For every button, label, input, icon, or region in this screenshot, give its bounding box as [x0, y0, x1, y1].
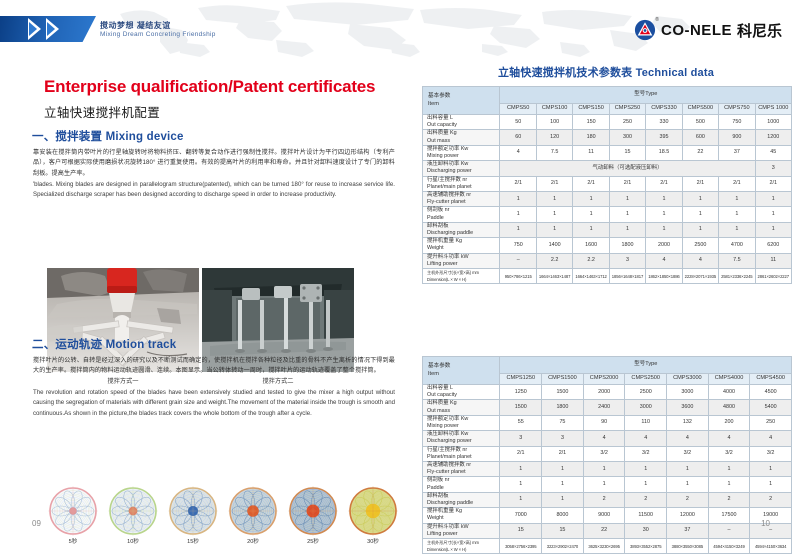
- table-row: 出料容量 LOut capacity5010015025033050075010…: [423, 115, 792, 130]
- table-cell: 1: [755, 207, 791, 222]
- table-cell: 60: [500, 130, 536, 145]
- table-cell: 1: [750, 462, 792, 477]
- table-cell: 1600: [573, 238, 609, 253]
- row-label-cell: 液压卸料功率 KwDischarging power: [423, 161, 500, 176]
- row-label-cell: 出料质量 KgOut mass: [423, 400, 500, 415]
- table-cell: 4: [625, 431, 667, 446]
- table-cell: 3000: [625, 400, 667, 415]
- table-cell: 2861×2602×2227: [755, 269, 791, 284]
- model-header-cell: CMPS100: [536, 104, 572, 115]
- table-cell: 120: [536, 130, 572, 145]
- table-cell: 5400: [750, 400, 792, 415]
- row-label-cell: 侧刮板 nrPaddle: [423, 477, 500, 492]
- row-label-cell: 搅拌额定功率 KwMixing power: [423, 415, 500, 430]
- table-cell: 4800: [708, 400, 750, 415]
- trademark-symbol: ®: [655, 17, 659, 23]
- brand-lockup: ® CO-NELE 科尼乐: [634, 18, 782, 42]
- table-cell: 1400: [536, 238, 572, 253]
- table-cell: 1664×1463×1712: [573, 269, 609, 284]
- table-cell: 300: [609, 130, 645, 145]
- table-cell: 250: [609, 115, 645, 130]
- model-header-cell: CMPS50: [500, 104, 536, 115]
- table-cell: 2500: [625, 385, 667, 400]
- table-cell: 1: [573, 192, 609, 207]
- table-cell: 1: [573, 222, 609, 237]
- model-header-cell: CMPS2500: [625, 374, 667, 385]
- table-cell: 1664×1463×1487: [536, 269, 572, 284]
- table-cell: 1: [708, 477, 750, 492]
- table-cell: 1: [609, 207, 645, 222]
- table-cell: 1: [500, 462, 542, 477]
- table-cell: 50: [500, 115, 536, 130]
- table-cell: 1: [755, 222, 791, 237]
- table-cell: 1: [719, 207, 755, 222]
- table-cell: 1000: [755, 115, 791, 130]
- table-cell: 15: [500, 523, 542, 538]
- row-label-cell: 出料质量 KgOut mass: [423, 130, 500, 145]
- table-cell: 1250: [500, 385, 542, 400]
- table-cell: 3600: [667, 400, 709, 415]
- table-cell: 1: [536, 222, 572, 237]
- table-cell: 15: [542, 523, 584, 538]
- model-header-cell: CMPS3000: [667, 374, 709, 385]
- table-cell: 3: [542, 431, 584, 446]
- section-1-heading-en: Mixing device: [106, 131, 184, 143]
- motion-track-caption: 20秒: [228, 537, 278, 545]
- table-cell: 4: [583, 431, 625, 446]
- table-cell: –: [708, 523, 750, 538]
- table-cell: 750: [719, 115, 755, 130]
- rosette-track-svg: [228, 486, 278, 536]
- model-header-cell: CMPS750: [719, 104, 755, 115]
- table-cell: 3: [755, 161, 791, 176]
- table-cell: 1: [625, 477, 667, 492]
- table-cell: 6200: [755, 238, 791, 253]
- table-cell: 15: [609, 145, 645, 160]
- table-row: 出料容量 LOut capacity1250150020002500300040…: [423, 385, 792, 400]
- slogan-english: Mixing Dream Concreting Friendship: [100, 31, 216, 38]
- table-cell: 2/1: [719, 176, 755, 191]
- table-cell: 1: [682, 207, 718, 222]
- table-cell: 22: [682, 145, 718, 160]
- table-cell: 2228×2071×1935: [682, 269, 718, 284]
- right-page: 立轴快速搅拌机技术参数表 Technical data 基本参数Item型号Ty…: [412, 58, 800, 542]
- row-label-cell: 高速辅助搅拌数 nrFly-cutter planet: [423, 192, 500, 207]
- table-cell: 132: [667, 415, 709, 430]
- table-cell: 1: [583, 462, 625, 477]
- table-cell: 1: [708, 462, 750, 477]
- section-1-heading: 一、搅拌装置 Mixing device: [32, 128, 184, 144]
- table-cell: 3/2: [750, 446, 792, 461]
- table-cell: 1: [583, 477, 625, 492]
- spec-table-1: 基本参数Item型号TypeCMPS50CMPS100CMPS150CMPS25…: [422, 86, 792, 284]
- model-header-cell: CMPS1250: [500, 374, 542, 385]
- table-cell: 1: [542, 477, 584, 492]
- model-header-cell: CMPS2000: [583, 374, 625, 385]
- model-header-cell: CMPS4500: [750, 374, 792, 385]
- row-label-cell: 搅拌机重量 KgWeight: [423, 238, 500, 253]
- table-row: 搅拌机重量 KgWeight70008000900011500120001750…: [423, 508, 792, 523]
- technical-data-title: 立轴快速搅拌机技术参数表 Technical data: [412, 64, 800, 80]
- table-cell: 1: [542, 492, 584, 507]
- table-cell: 3223×2902×2470: [542, 539, 584, 554]
- model-header-cell: CMPS250: [609, 104, 645, 115]
- table-cell: 7000: [500, 508, 542, 523]
- table-cell: 2000: [646, 238, 682, 253]
- table-cell: 4594×4150×3634: [750, 539, 792, 554]
- table-row: 高速辅助搅拌数 nrFly-cutter planet11111111: [423, 192, 792, 207]
- table-cell: 7.5: [719, 253, 755, 268]
- row-label-cell: 卸料刮板Discharging paddle: [423, 222, 500, 237]
- table-row: 卸料刮板Discharging paddle1122222: [423, 492, 792, 507]
- table-row: 提升料斗功率 kWLifting power1515223037––: [423, 523, 792, 538]
- table-cell: 4: [708, 431, 750, 446]
- motion-track-diagram: [288, 486, 338, 536]
- table-row: 出料质量 KgOut mass1500180024003000360048005…: [423, 400, 792, 415]
- motion-track-diagram: [228, 486, 278, 536]
- table-cell: 11: [755, 253, 791, 268]
- row-label-cell: 提升料斗功率 kWLifting power: [423, 523, 500, 538]
- table-row: 出料质量 KgOut mass601201803003956009001200: [423, 130, 792, 145]
- page-number-right: 10: [761, 519, 770, 528]
- table-cell: 1: [500, 222, 536, 237]
- table-cell: 950×786×1215: [500, 269, 536, 284]
- table-row: 卸料刮板Discharging paddle11111111: [423, 222, 792, 237]
- table-cell: 1500: [542, 385, 584, 400]
- table-cell: 1: [536, 192, 572, 207]
- page-header: 搅动梦想 凝结友谊 Mixing Dream Concreting Friend…: [0, 0, 800, 58]
- rosette-track-svg: [48, 486, 98, 536]
- row-label-cell: 液压卸料功率 KwDischarging power: [423, 431, 500, 446]
- table-cell: 330: [646, 115, 682, 130]
- header-type-cell: 型号Type: [500, 357, 792, 374]
- table-cell: 1: [646, 222, 682, 237]
- table-cell: 2/1: [755, 176, 791, 191]
- rosette-track-svg: [288, 486, 338, 536]
- table-cell: 2: [583, 492, 625, 507]
- table-cell: 1: [500, 192, 536, 207]
- table-cell: 110: [625, 415, 667, 430]
- motion-track-caption: 5秒: [48, 537, 98, 545]
- photo-2-caption: 搅拌方式二: [202, 376, 354, 385]
- model-header-cell: CMPS 1000: [755, 104, 791, 115]
- table-cell: 1: [536, 207, 572, 222]
- section-1-paragraph-en: 'blades. Mixing blades are designed in p…: [33, 180, 395, 201]
- table-cell: 3058×2756×2395: [500, 539, 542, 554]
- table-cell: 19000: [750, 508, 792, 523]
- table-cell: 3/2: [708, 446, 750, 461]
- table-cell: 22: [583, 523, 625, 538]
- rosette-track-svg: [108, 486, 158, 536]
- header-item-cell: 基本参数Item: [423, 357, 500, 385]
- table-row: 侧刮板 nrPaddle11111111: [423, 207, 792, 222]
- slogan-chinese: 搅动梦想 凝结友谊: [100, 20, 171, 31]
- row-label-cell: 提升料斗功率 kWLifting power: [423, 253, 500, 268]
- table-cell: 2: [750, 492, 792, 507]
- table-cell: 18.5: [646, 145, 682, 160]
- row-label-cell: 行星/主搅拌数 nrPlanet/main planet: [423, 446, 500, 461]
- brand-name-cn: 科尼乐: [737, 20, 782, 41]
- row-label-cell: 搅拌额定功率 KwMixing power: [423, 145, 500, 160]
- table-cell: 1: [542, 462, 584, 477]
- table-cell: 1: [609, 222, 645, 237]
- row-label-cell: 搅拌机重量 KgWeight: [423, 508, 500, 523]
- table-cell: 30: [625, 523, 667, 538]
- section-2-heading-cn: 二、运动轨迹: [32, 339, 102, 351]
- table-cell: 3/2: [625, 446, 667, 461]
- table-cell: 1: [646, 192, 682, 207]
- motion-track-diagram: [48, 486, 98, 536]
- table-cell: 900: [719, 130, 755, 145]
- section-2-paragraph-cn: 搅拌叶片的公转、自转是经过深入的研究以及不断测试而确定的，使搅拌机在搅拌各种粒径…: [33, 356, 395, 377]
- table-cell: 1: [609, 192, 645, 207]
- table-cell: 200: [708, 415, 750, 430]
- logo-chevron-inner-icon: [29, 22, 37, 36]
- table-cell: 4: [682, 253, 718, 268]
- table-cell: 4: [750, 431, 792, 446]
- table-cell: 150: [573, 115, 609, 130]
- row-label-cell: 主机外形尺寸(长×宽×高) mmDimension(L × W × H): [423, 539, 500, 554]
- table-cell: 2.2: [536, 253, 572, 268]
- rosette-track-svg: [168, 486, 218, 536]
- section-1-paragraph-cn: 靠安装在搅拌筒内带叶片的行星轴旋转时将物料挤压、翻转等复合动作进行强制性搅拌。搅…: [33, 148, 395, 179]
- table-cell: 2.2: [573, 253, 609, 268]
- table-cell: –: [500, 253, 536, 268]
- rosette-track-svg: [348, 486, 398, 536]
- table-cell: 2/1: [609, 176, 645, 191]
- model-header-cell: CMPS150: [573, 104, 609, 115]
- table-cell: 2: [708, 492, 750, 507]
- table-cell: 8000: [542, 508, 584, 523]
- table-cell: 180: [573, 130, 609, 145]
- table-cell: 750: [500, 238, 536, 253]
- motion-track-caption: 25秒: [288, 537, 338, 545]
- table-cell: 1: [682, 222, 718, 237]
- table-cell: 1: [682, 192, 718, 207]
- table-row: 主机外形尺寸(长×宽×高) mmDimension(L × W × H)3058…: [423, 539, 792, 554]
- row-label-cell: 行星/主搅拌数 nrPlanet/main planet: [423, 176, 500, 191]
- table-cell: 3625×3230×2695: [583, 539, 625, 554]
- table-cell: 4: [500, 145, 536, 160]
- section-2-heading-en: Motion track: [106, 339, 177, 351]
- table-row: 侧刮板 nrPaddle1111111: [423, 477, 792, 492]
- table-cell: 1: [500, 492, 542, 507]
- table-row: 液压卸料功率 KwDischarging power气动卸料（可选配液压卸料）3: [423, 161, 792, 176]
- table-cell: 1: [719, 222, 755, 237]
- conele-logo-icon: ®: [634, 19, 656, 41]
- table-cell: 2/1: [682, 176, 718, 191]
- table-cell: 1: [755, 192, 791, 207]
- motion-track-caption: 10秒: [108, 537, 158, 545]
- page-number-left: 09: [32, 519, 41, 528]
- table-cell: 3/2: [667, 446, 709, 461]
- table-cell: 3/2: [583, 446, 625, 461]
- table-cell: 4000: [708, 385, 750, 400]
- row-label-cell: 卸料刮板Discharging paddle: [423, 492, 500, 507]
- table-row: 提升料斗功率 kWLifting power–2.22.23447.511: [423, 253, 792, 268]
- table-cell: 1: [573, 207, 609, 222]
- table-cell: 4594×4150×3249: [708, 539, 750, 554]
- table-row: 高速辅助搅拌数 nrFly-cutter planet1111111: [423, 462, 792, 477]
- motion-track-caption: 15秒: [168, 537, 218, 545]
- table-cell: 2500: [682, 238, 718, 253]
- table-row: 搅拌额定功率 KwMixing power557590110132200250: [423, 415, 792, 430]
- page-title-cn: 立轴快速搅拌机配置: [44, 102, 160, 121]
- motion-track-diagram: [108, 486, 158, 536]
- table-cell: 1: [719, 192, 755, 207]
- row-label-cell: 出料容量 LOut capacity: [423, 115, 500, 130]
- table-cell: 395: [646, 130, 682, 145]
- table-row: 搅拌机重量 KgWeight75014001600180020002500470…: [423, 238, 792, 253]
- table-row: 行星/主搅拌数 nrPlanet/main planet2/12/12/12/1…: [423, 176, 792, 191]
- table-cell: 250: [750, 415, 792, 430]
- motion-track-diagram: [348, 486, 398, 536]
- table-cell: 3: [500, 431, 542, 446]
- table-cell: 3880×3550×3085: [667, 539, 709, 554]
- table-cell: 4: [667, 431, 709, 446]
- table-cell: 9000: [583, 508, 625, 523]
- table-cell: –: [750, 523, 792, 538]
- row-label-cell: 侧刮板 nrPaddle: [423, 207, 500, 222]
- table-row: 行星/主搅拌数 nrPlanet/main planet2/12/13/23/2…: [423, 446, 792, 461]
- table-cell: 600: [682, 130, 718, 145]
- table-cell: 2: [625, 492, 667, 507]
- table-cell: 4500: [750, 385, 792, 400]
- table-cell: 7.5: [536, 145, 572, 160]
- logo-chevron-inner-icon-2: [47, 22, 55, 36]
- world-map-watermark: [90, 0, 710, 58]
- table-cell: 75: [542, 415, 584, 430]
- table-cell: 1: [500, 477, 542, 492]
- photo-1-caption: 搅拌方式一: [47, 376, 199, 385]
- model-header-cell: CMPS500: [682, 104, 718, 115]
- table-cell: 500: [682, 115, 718, 130]
- table-cell: 2000: [583, 385, 625, 400]
- table-cell: 45: [755, 145, 791, 160]
- table-cell: 1500: [500, 400, 542, 415]
- table-cell: 100: [536, 115, 572, 130]
- table-cell: 1: [646, 207, 682, 222]
- table-row: 主机外形尺寸(长×宽×高) mmDimension(L × W × H)950×…: [423, 269, 792, 284]
- table-cell: 37: [667, 523, 709, 538]
- table-cell: 4: [646, 253, 682, 268]
- left-page: Enterprise qualification/Patent certific…: [0, 58, 412, 542]
- table-cell: 2581×2336×2245: [719, 269, 755, 284]
- table-cell: 90: [583, 415, 625, 430]
- page-title-en: Enterprise qualification/Patent certific…: [44, 77, 375, 97]
- table-cell: 1800: [542, 400, 584, 415]
- header-item-cell: 基本参数Item: [423, 87, 500, 115]
- table-cell: 3893×3552×2875: [625, 539, 667, 554]
- table-cell: 1862×1850×1886: [646, 269, 682, 284]
- model-header-cell: CMPS330: [646, 104, 682, 115]
- section-1-heading-cn: 一、搅拌装置: [32, 131, 102, 143]
- table-cell: 1: [750, 477, 792, 492]
- row-label-cell: 高速辅助搅拌数 nrFly-cutter planet: [423, 462, 500, 477]
- table-cell: 11500: [625, 508, 667, 523]
- table-cell: 1800: [609, 238, 645, 253]
- table-cell: 2/1: [573, 176, 609, 191]
- table-cell: 2400: [583, 400, 625, 415]
- table-cell: 1200: [755, 130, 791, 145]
- spec-table-2: 基本参数Item型号TypeCMPS1250CMPS1500CMPS2000CM…: [422, 356, 792, 554]
- table-cell: 2/1: [500, 446, 542, 461]
- table-cell: 3: [609, 253, 645, 268]
- table-row: 搅拌额定功率 KwMixing power47.5111518.5223745: [423, 145, 792, 160]
- table-cell: 55: [500, 415, 542, 430]
- table-cell: 2/1: [536, 176, 572, 191]
- table-row: 液压卸料功率 KwDischarging power3344444: [423, 431, 792, 446]
- model-header-cell: CMPS1500: [542, 374, 584, 385]
- table-cell: 2/1: [646, 176, 682, 191]
- header-type-cell: 型号Type: [500, 87, 792, 104]
- table-cell: 2: [667, 492, 709, 507]
- section-2-heading: 二、运动轨迹 Motion track: [32, 336, 176, 352]
- table-cell: 3000: [667, 385, 709, 400]
- table-cell: 37: [719, 145, 755, 160]
- table-cell: 4700: [719, 238, 755, 253]
- table-cell: 2/1: [500, 176, 536, 191]
- motion-track-diagram: [168, 486, 218, 536]
- row-label-cell: 主机外形尺寸(长×宽×高) mmDimension(L × W × H): [423, 269, 500, 284]
- merged-note-cell: 气动卸料（可选配液压卸料）: [500, 161, 755, 176]
- brand-name-en: CO-NELE: [661, 22, 732, 39]
- table-cell: 2/1: [542, 446, 584, 461]
- table-cell: 1: [625, 462, 667, 477]
- motion-track-caption: 30秒: [348, 537, 398, 545]
- table-cell: 17500: [708, 508, 750, 523]
- table-cell: 1: [667, 462, 709, 477]
- table-cell: 12000: [667, 508, 709, 523]
- table-cell: 1: [500, 207, 536, 222]
- section-2-paragraph-en: The revolution and rotation speed of the…: [33, 388, 395, 419]
- model-header-cell: CMPS4000: [708, 374, 750, 385]
- table-cell: 11: [573, 145, 609, 160]
- table-cell: 1: [667, 477, 709, 492]
- table-cell: 1856×1648×1817: [609, 269, 645, 284]
- row-label-cell: 出料容量 LOut capacity: [423, 385, 500, 400]
